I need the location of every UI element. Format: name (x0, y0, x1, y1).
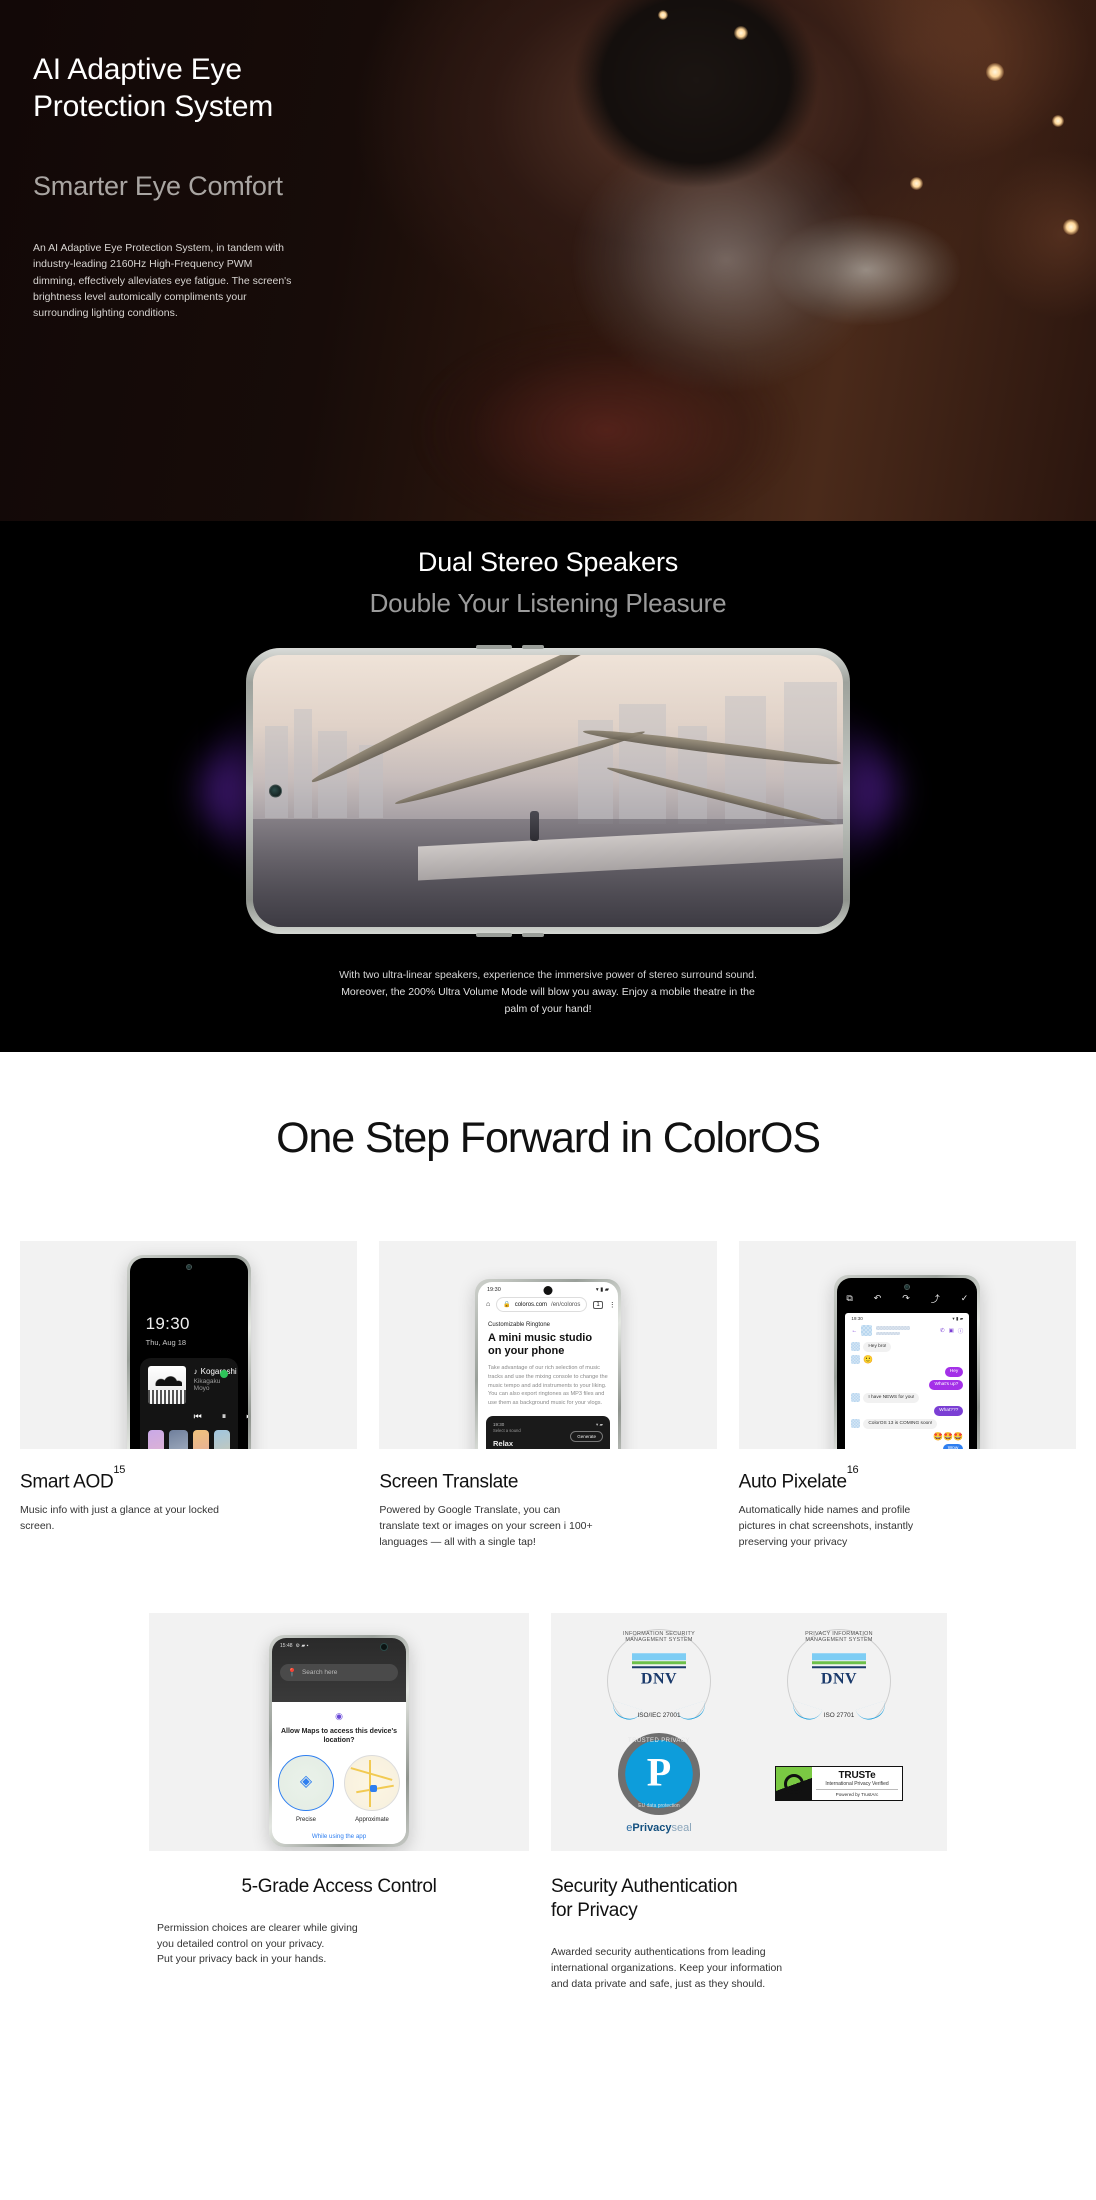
playlist-item[interactable]: Evening Acoustic (169, 1430, 188, 1449)
chat-row: ColorOS 13 is COMING soon! (851, 1419, 963, 1429)
coloros-section: One Step Forward in ColorOS 19:30 Thu, A… (0, 1052, 1096, 2046)
next-track-icon[interactable]: ⏭ (246, 1412, 247, 1421)
dual-stereo-speakers-section: Dual Stereo Speakers Double Your Listeni… (0, 521, 1096, 1052)
punch-hole-camera-icon (380, 1643, 388, 1651)
phone-mockup-maps: 15:48 ⚙ ▰ ▪ 📍 Search here ◉ (269, 1635, 409, 1847)
feature-card-security-authentication: INFORMATION SECURITY MANAGEMENT SYSTEM D… (551, 1613, 947, 1993)
option-label: Precise (278, 1817, 334, 1823)
dnv-bars-icon (812, 1653, 866, 1669)
feature-card-smart-aod: 19:30 Thu, Aug 18 ♪Kogarashi Kikagaku Mo… (20, 1241, 357, 1551)
article-eyebrow: Customizable Ringtone (488, 1322, 608, 1328)
feature-media-certifications: INFORMATION SECURITY MANAGEMENT SYSTEM D… (551, 1613, 947, 1851)
browser-page-content: Customizable Ringtone A mini music studi… (478, 1312, 618, 1408)
approximate-location-preview (344, 1755, 400, 1811)
certification-badges: INFORMATION SECURITY MANAGEMENT SYSTEM D… (551, 1613, 947, 1851)
pause-icon[interactable]: ⏸ (222, 1412, 227, 1421)
phone-mockup-aod: 19:30 Thu, Aug 18 ♪Kogarashi Kikagaku Mo… (127, 1255, 251, 1449)
location-permission-dialog: ◉ Allow Maps to access this device's loc… (272, 1702, 406, 1844)
call-icon[interactable]: ✆ (940, 1328, 945, 1334)
badge-letter: P (647, 1752, 671, 1792)
badge-standard: ISO/IEC 27001 (638, 1712, 681, 1719)
more-menu-icon[interactable]: ⋮ (609, 1301, 616, 1309)
playlist-item[interactable]: Party Up! (148, 1430, 164, 1449)
pixelated-avatar (851, 1355, 860, 1364)
maps-top-bar: 15:48 ⚙ ▰ ▪ 📍 Search here (272, 1638, 406, 1702)
product-page: AI Adaptive Eye Protection System Smarte… (0, 0, 1096, 2046)
lock-icon: 🔒 (503, 1301, 510, 1308)
badge-brand: DNV (812, 1670, 866, 1688)
badge-dnv-iso-27701: PRIVACY INFORMATION MANAGEMENT SYSTEM DN… (749, 1629, 929, 1733)
game-screen (253, 655, 843, 927)
music-note-icon: ♪ (194, 1367, 198, 1376)
location-pin-icon: ◉ (280, 1711, 398, 1722)
chat-row: Hey bro! (851, 1342, 963, 1352)
feature-media-smart-aod: 19:30 Thu, Aug 18 ♪Kogarashi Kikagaku Mo… (20, 1241, 357, 1449)
chat-bubble: What's up? (929, 1380, 963, 1390)
home-icon[interactable]: ⌂ (486, 1301, 490, 1308)
dnv-bars-icon (632, 1653, 686, 1669)
footnote-marker: 15 (113, 1464, 125, 1476)
feature-media-access-control: 15:48 ⚙ ▰ ▪ 📍 Search here ◉ (149, 1613, 529, 1851)
option-approximate[interactable]: Approximate (344, 1755, 400, 1823)
speakers-description: With two ultra-linear speakers, experien… (238, 967, 858, 1018)
pixelated-avatar (851, 1393, 860, 1402)
chat-emoji-reaction: 🤩🤩🤩 (851, 1432, 963, 1441)
video-call-icon[interactable]: ▣ (949, 1328, 954, 1334)
feature-title: Security Authentication for Privacy (551, 1875, 947, 1924)
punch-hole-camera-icon (543, 1286, 552, 1295)
feature-description: Permission choices are clearer while giv… (157, 1921, 529, 1968)
chat-message-list: Hey bro! 🙂 Hey What's up? I have NEWS fo… (845, 1340, 969, 1449)
redo-icon[interactable]: ↷ (902, 1293, 910, 1304)
feature-card-auto-pixelate: ⧉ ↶ ↷ ⤴ ✓ 19:30▾ ▮ ▰ ← (739, 1241, 1076, 1551)
aod-song-title: Kogarashi (201, 1367, 237, 1376)
chat-emoji: 🙂 (863, 1355, 873, 1364)
chat-bubble: I have NEWS for you! (863, 1393, 919, 1403)
pixelated-avatar (851, 1419, 860, 1428)
confirm-check-icon[interactable]: ✓ (961, 1293, 969, 1304)
badge-brand: DNV (632, 1670, 686, 1688)
console-status-icons: ▾ ▰ (596, 1422, 603, 1428)
hero-eye-protection-section: AI Adaptive Eye Protection System Smarte… (0, 0, 1096, 521)
undo-icon[interactable]: ↶ (874, 1293, 882, 1304)
front-camera-icon (269, 785, 282, 798)
hero-title: AI Adaptive Eye Protection System (33, 52, 520, 125)
map-pin-icon: ◈ (300, 1771, 312, 1791)
badge-line-3: Powered by TrustArc (816, 1789, 898, 1797)
album-art (148, 1366, 186, 1404)
status-icons: ▾ ▮ ▰ (596, 1287, 609, 1293)
maps-search-placeholder: Search here (302, 1669, 337, 1676)
coloros-feature-grid: 19:30 Thu, Aug 18 ♪Kogarashi Kikagaku Mo… (0, 1241, 1096, 1551)
badge-ring-text: PRIVACY INFORMATION MANAGEMENT SYSTEM (787, 1631, 891, 1643)
maps-search-field[interactable]: 📍 Search here (280, 1664, 398, 1681)
playlist-thumbnail (214, 1430, 230, 1449)
back-arrow-icon[interactable]: ← (851, 1328, 857, 1334)
feature-description: Automatically hide names and profile pic… (739, 1503, 1076, 1550)
avatar (861, 1325, 872, 1336)
front-camera-icon (186, 1264, 192, 1270)
option-precise[interactable]: ◈ Precise (278, 1755, 334, 1823)
while-using-app-button[interactable]: While using the app (280, 1833, 398, 1840)
badge-standard: ISO 27701 (824, 1712, 855, 1719)
status-time: 19:30 (487, 1287, 501, 1293)
chat-row: Hey (851, 1367, 963, 1377)
playlist-thumbnail (193, 1430, 209, 1449)
chat-screenshot: 19:30▾ ▮ ▰ ← ✆ ▣ ⓘ He (845, 1313, 969, 1449)
footnote-marker: 16 (847, 1464, 859, 1476)
phone-mockup-chat: ⧉ ↶ ↷ ⤴ ✓ 19:30▾ ▮ ▰ ← (834, 1275, 980, 1449)
article-paragraph: Take advantage of our rich selection of … (488, 1364, 608, 1407)
precise-location-preview: ◈ (278, 1755, 334, 1811)
url-domain: coloros.com (515, 1302, 547, 1308)
feature-description: Awarded security authentications from le… (551, 1945, 947, 1992)
feature-title: Auto Pixelate16 (739, 1471, 1076, 1493)
landscape-phone-mockup (246, 648, 850, 934)
permission-options: ◈ Precise (280, 1755, 398, 1823)
url-path: /en/coloros (551, 1302, 580, 1308)
phone-mockup-browser: 19:30 ▾ ▮ ▰ ⌂ 🔒 coloros.com/en/coloros 1 (475, 1279, 621, 1449)
chat-row: What's up? (851, 1380, 963, 1390)
permission-question: Allow Maps to access this device's locat… (280, 1727, 398, 1746)
chat-bubble: Hey (945, 1367, 964, 1377)
playlist-thumbnail (148, 1430, 164, 1449)
now-playing-indicator-icon (220, 1370, 228, 1378)
badge-ring-text: INFORMATION SECURITY MANAGEMENT SYSTEM (607, 1631, 711, 1643)
status-time: 19:30 (851, 1316, 863, 1322)
badge-ring-top-text: TRUSTED PRIVACY (618, 1738, 700, 1744)
hero-description: An AI Adaptive Eye Protection System, in… (33, 240, 333, 321)
front-camera-icon (904, 1284, 910, 1290)
truste-e-icon (784, 1774, 804, 1794)
speakers-subtitle: Double Your Listening Pleasure (0, 588, 1096, 619)
feature-title: Screen Translate (379, 1471, 716, 1493)
pixelated-contact-name (876, 1326, 936, 1335)
feature-description: Music info with just a glance at your lo… (20, 1503, 357, 1535)
info-icon[interactable]: ⓘ (958, 1327, 964, 1335)
map-pin-icon: 📍 (287, 1668, 297, 1677)
option-label: Approximate (344, 1817, 400, 1823)
coloros-heading: One Step Forward in ColorOS (0, 1114, 1096, 1163)
playlist-thumbnail (169, 1430, 188, 1449)
aod-date: Thu, Aug 18 (146, 1338, 186, 1347)
badge-line-2: International Privacy Verified (816, 1781, 898, 1787)
tab-count-icon[interactable]: 1 (593, 1301, 602, 1309)
console-title: Relax (493, 1439, 521, 1448)
status-time: 15:48 (280, 1643, 293, 1649)
feature-title: 5-Grade Access Control (149, 1875, 529, 1899)
coloros-bottom-grid: 15:48 ⚙ ▰ ▪ 📍 Search here ◉ (0, 1613, 1096, 1993)
badge-caption: ePrivacyseal (618, 1822, 700, 1834)
chat-row: What??? (851, 1406, 963, 1416)
article-headline: A mini music studio on your phone (488, 1332, 608, 1358)
speakers-phone-stage (0, 641, 1096, 941)
hero-subtitle: Smarter Eye Comfort (33, 171, 520, 202)
feature-media-auto-pixelate: ⧉ ↶ ↷ ⤴ ✓ 19:30▾ ▮ ▰ ← (739, 1241, 1076, 1449)
crop-icon[interactable]: ⧉ (846, 1293, 852, 1304)
speakers-title: Dual Stereo Speakers (0, 547, 1096, 578)
aod-artist-name: Kikagaku Moyo (194, 1378, 230, 1392)
console-label: Select a sound (493, 1428, 521, 1433)
feature-media-screen-translate: 19:30 ▾ ▮ ▰ ⌂ 🔒 coloros.com/en/coloros 1 (379, 1241, 716, 1449)
chat-bubble: Hey bro! (863, 1342, 891, 1352)
badge-brand: TRUSTe (816, 1770, 898, 1781)
pixelated-avatar (851, 1342, 860, 1351)
feature-card-screen-translate: 19:30 ▾ ▮ ▰ ⌂ 🔒 coloros.com/en/coloros 1 (379, 1241, 716, 1551)
chat-bubble: What??? (934, 1406, 963, 1416)
chat-row: I have NEWS for you! (851, 1393, 963, 1403)
aod-playlist-row: Party Up! Evening Acoustic Good Vibes (148, 1430, 230, 1449)
previous-track-icon[interactable]: ⏮ (194, 1412, 202, 1421)
aod-music-widget[interactable]: ♪Kogarashi Kikagaku Moyo ⏮ ⏸ ⏭ ♡ (140, 1358, 238, 1449)
chat-header: ← ✆ ▣ ⓘ (845, 1323, 969, 1340)
badge-truste: TRUSTe International Privacy Verified Po… (749, 1733, 929, 1834)
ringtone-console-panel: 19:30▾ ▰ Select a sound Relax Generate (486, 1416, 610, 1449)
aod-clock: 19:30 (146, 1314, 190, 1334)
badge-dnv-iso-27001: INFORMATION SECURITY MANAGEMENT SYSTEM D… (569, 1629, 749, 1733)
address-bar[interactable]: 🔒 coloros.com/en/coloros (496, 1297, 587, 1312)
generate-button[interactable]: Generate (570, 1431, 603, 1442)
status-icons: ▾ ▮ ▰ (952, 1316, 963, 1322)
eprivacy-seal-icon: TRUSTED PRIVACY P EU data protection (618, 1733, 700, 1815)
badge-ring-bottom-text: EU data protection (618, 1803, 700, 1809)
playlist-item[interactable]: Chill Hits (214, 1430, 230, 1449)
chat-bubble: Wow (943, 1444, 964, 1449)
browser-toolbar: ⌂ 🔒 coloros.com/en/coloros 1 ⋮ (486, 1297, 610, 1312)
chat-row: Wow (851, 1444, 963, 1449)
share-icon[interactable]: ⤴ (931, 1292, 940, 1305)
status-icons: ⚙ ▰ ▪ (296, 1643, 309, 1649)
truste-seal-icon: TRUSTe International Privacy Verified Po… (775, 1766, 903, 1801)
feature-title: Smart AOD15 (20, 1471, 357, 1493)
feature-description: Powered by Google Translate, you can tra… (379, 1503, 716, 1550)
feature-card-access-control: 15:48 ⚙ ▰ ▪ 📍 Search here ◉ (149, 1613, 529, 1993)
chat-row: 🙂 (851, 1355, 963, 1364)
badge-eprivacyseal: TRUSTED PRIVACY P EU data protection ePr… (569, 1733, 749, 1834)
playlist-item[interactable]: Good Vibes (193, 1430, 209, 1449)
chat-bubble: ColorOS 13 is COMING soon! (863, 1419, 937, 1429)
